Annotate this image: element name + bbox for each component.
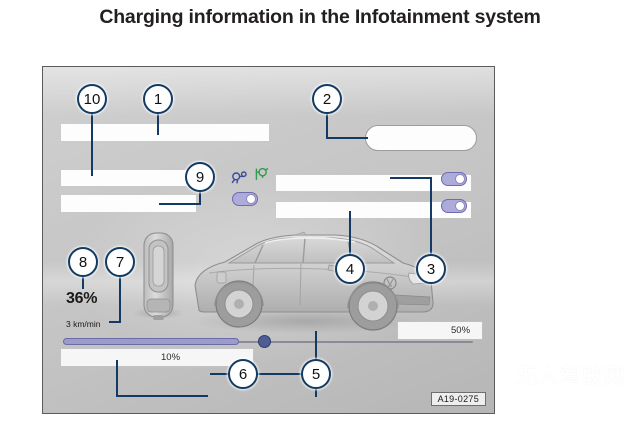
callout-7[interactable]: 7 xyxy=(105,247,135,277)
watermark-cn: 无人驾驶网 xyxy=(505,360,637,390)
battery-percent-value: 36% xyxy=(66,290,97,308)
car-shadow xyxy=(193,308,417,334)
leader-3-h xyxy=(390,177,432,179)
callout-10[interactable]: 10 xyxy=(77,84,107,114)
leader-7-h xyxy=(109,321,121,323)
callout-9[interactable]: 9 xyxy=(185,162,215,192)
leader-10 xyxy=(91,113,93,176)
status-pill[interactable] xyxy=(365,125,477,151)
charge-slider-handle[interactable] xyxy=(258,335,271,348)
toggle-switch-right-2[interactable] xyxy=(441,199,467,213)
callout-1[interactable]: 1 xyxy=(143,84,173,114)
watermark-url: WWW.WRDRIVE.COM xyxy=(505,393,637,402)
page-title: Charging information in the Infotainment… xyxy=(0,6,640,29)
infotainment-figure: 36% 3 km/min 10% 50% 10 1 9 2 3 4 8 7 6 … xyxy=(42,66,495,414)
toggle-knob xyxy=(455,201,465,211)
charge-slider-fill xyxy=(63,338,239,345)
slider-max-label: 50% xyxy=(451,325,470,336)
callout-5[interactable]: 5 xyxy=(301,359,331,389)
leader-8 xyxy=(82,275,84,289)
plug-blue-icon xyxy=(231,170,247,184)
leader-9-h xyxy=(159,203,201,205)
leader-2-h xyxy=(326,137,368,139)
slider-min-label: 10% xyxy=(161,352,180,363)
callout-4[interactable]: 4 xyxy=(335,254,365,284)
charge-rate-value: 3 km/min xyxy=(66,319,100,329)
leader-1 xyxy=(157,113,159,135)
leader-7-v xyxy=(119,275,121,323)
vw-id3-car xyxy=(195,232,433,330)
charger-shadow xyxy=(132,307,184,319)
leader-2-v xyxy=(326,113,328,139)
plug-green-icon xyxy=(253,167,269,181)
toggle-switch-left[interactable] xyxy=(232,192,258,206)
callout-6[interactable]: 6 xyxy=(228,359,258,389)
watermark: 无人驾驶网 WWW.WRDRIVE.COM xyxy=(505,360,637,402)
toggle-knob xyxy=(246,194,256,204)
wallbox-charging-station xyxy=(144,233,173,320)
callout-2[interactable]: 2 xyxy=(312,84,342,114)
info-bar-middle xyxy=(61,170,196,186)
leader-6-v xyxy=(116,360,118,397)
toggle-knob xyxy=(455,174,465,184)
figure-id-label: A19-0275 xyxy=(431,392,486,406)
leader-6-h xyxy=(116,395,208,397)
callout-3[interactable]: 3 xyxy=(416,254,446,284)
callout-8[interactable]: 8 xyxy=(68,247,98,277)
slider-min-plate xyxy=(61,349,253,366)
toggle-switch-right-1[interactable] xyxy=(441,172,467,186)
